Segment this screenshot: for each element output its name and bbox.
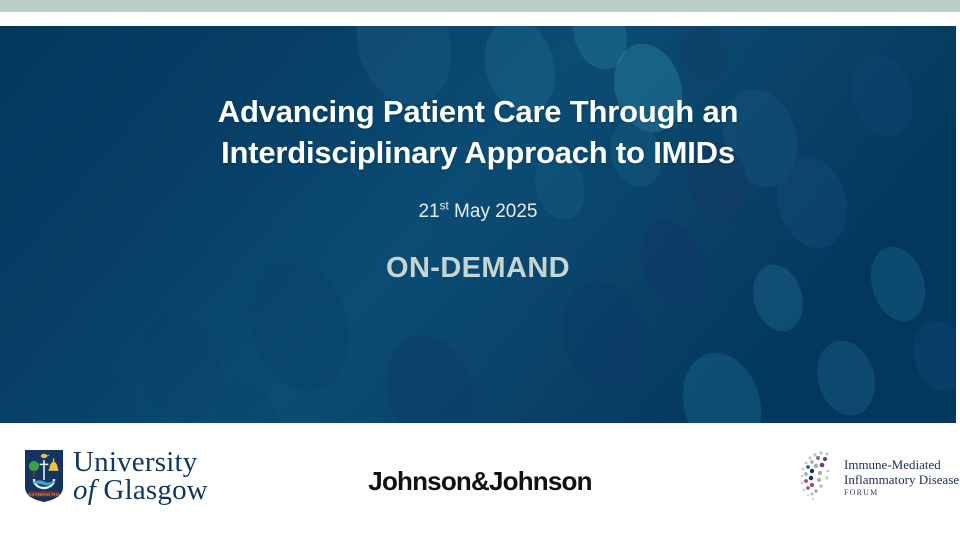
imid-wordmark-line1: Immune-Mediated <box>844 457 959 472</box>
status-badge: ON-DEMAND <box>386 224 570 286</box>
event-date-ordinal: st <box>440 199 449 212</box>
glasgow-wordmark-city: Glasgow <box>103 474 208 506</box>
presentation-title-slide: Advancing Patient Care Through an Interd… <box>0 0 960 540</box>
event-date-day: 21 <box>418 201 439 222</box>
glasgow-crest-icon: VIA VERITAS VITA <box>24 449 64 503</box>
logo-university-of-glasgow: VIA VERITAS VITA University of Glasgow <box>24 448 208 505</box>
event-date: 21st May 2025 <box>418 174 537 224</box>
imid-wordmark-line2: Inflammatory Disease <box>844 472 959 487</box>
imid-wordmark: Immune-Mediated Inflammatory Disease FOR… <box>844 457 959 497</box>
svg-text:VIA VERITAS VITA: VIA VERITAS VITA <box>28 493 61 497</box>
top-white-gap <box>0 12 960 26</box>
glasgow-wordmark-of: of <box>73 474 103 506</box>
glasgow-wordmark-line1: University <box>73 448 208 476</box>
top-accent-bar <box>0 0 960 12</box>
logo-imid-forum: Immune-Mediated Inflammatory Disease FOR… <box>797 449 959 505</box>
imid-wordmark-line3: FORUM <box>844 487 959 497</box>
jnj-wordmark: Johnson&Johnson <box>368 466 591 497</box>
sponsor-logo-strip: VIA VERITAS VITA University of Glasgow J… <box>0 423 960 540</box>
glasgow-wordmark-line2: of Glasgow <box>73 476 208 504</box>
imid-dot-swoosh-icon <box>797 449 841 505</box>
page-title: Advancing Patient Care Through an Interd… <box>178 92 778 174</box>
event-date-rest: May 2025 <box>449 201 538 222</box>
hero-content: Advancing Patient Care Through an Interd… <box>0 26 956 423</box>
hero-panel: Advancing Patient Care Through an Interd… <box>0 26 956 423</box>
glasgow-wordmark: University of Glasgow <box>73 448 208 505</box>
